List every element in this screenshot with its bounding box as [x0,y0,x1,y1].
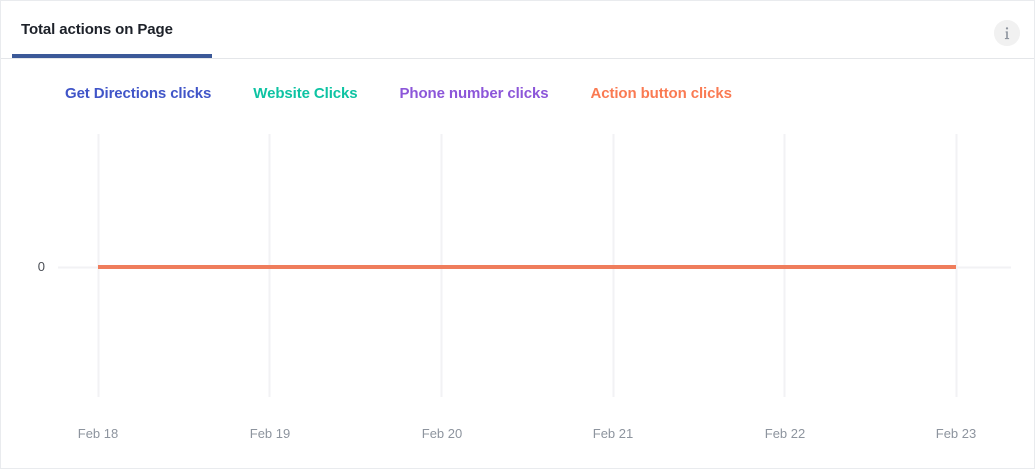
chart-plot-area: 0 Feb 18 Feb 19 Feb 20 Feb 21 Feb 22 Feb… [1,1,1035,469]
total-actions-card: Total actions on Page Get Directions cli… [0,0,1035,469]
x-axis-tick-feb-19: Feb 19 [225,426,315,441]
x-axis-tick-feb-18: Feb 18 [53,426,143,441]
x-axis-tick-feb-21: Feb 21 [568,426,658,441]
x-axis-tick-feb-20: Feb 20 [397,426,487,441]
y-axis-tick-0: 0 [23,259,45,274]
x-axis-tick-feb-23: Feb 23 [911,426,1001,441]
x-axis-tick-feb-22: Feb 22 [740,426,830,441]
